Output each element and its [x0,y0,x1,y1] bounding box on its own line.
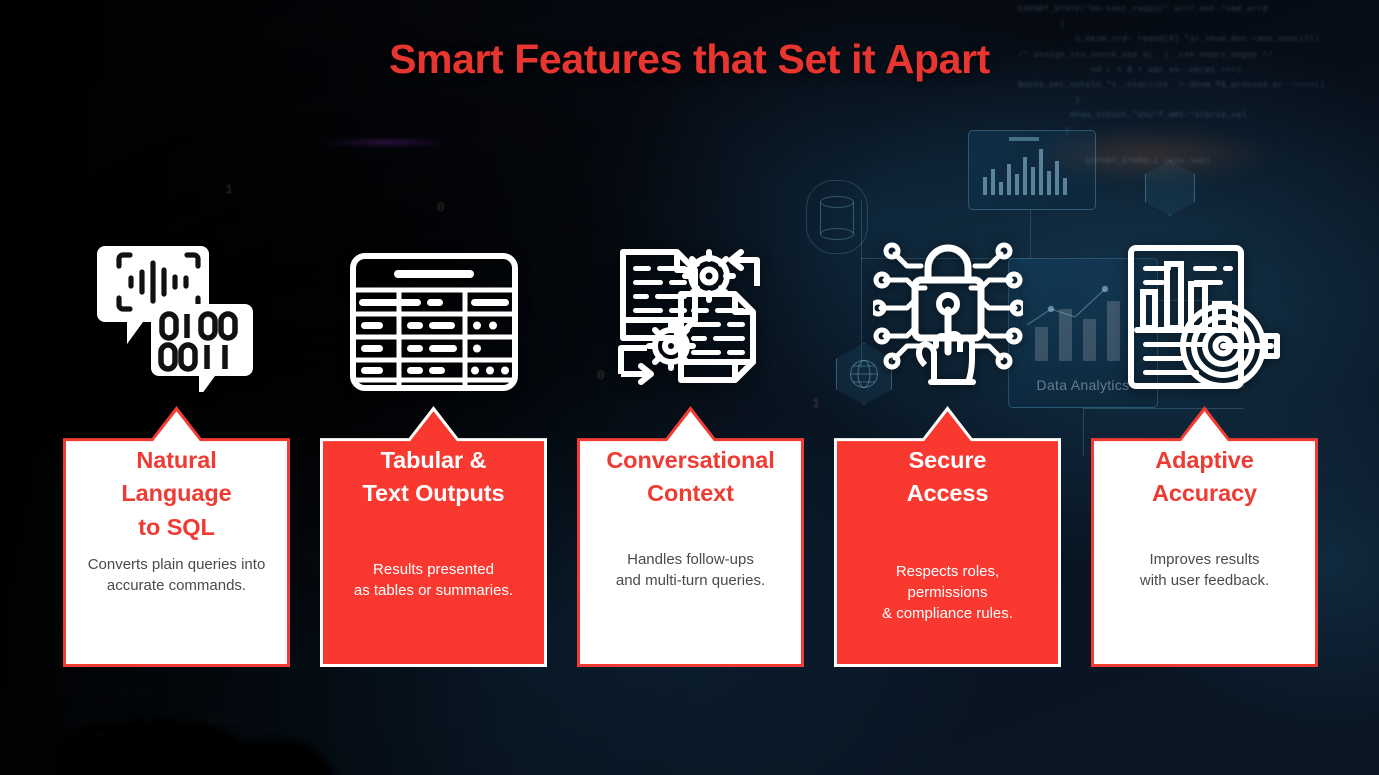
page-title: Smart Features that Set it Apart [0,36,1379,83]
gear-icon [649,324,693,368]
feature-card-adaptive-accuracy[interactable]: AdaptiveAccuracyImproves resultswith use… [1091,406,1318,667]
padlock-circuit-hand-icon [873,232,1023,392]
icon-cell-adaptive-accuracy [1091,212,1318,392]
icon-cell-natural-language-to-sql [63,212,290,392]
gear-icon [685,252,733,300]
feature-card-tabular-text-outputs[interactable]: Tabular &Text OutputsResults presentedas… [320,406,547,667]
feature-icon-row [63,212,1318,392]
feature-card-title: ConversationalContext [606,444,774,511]
feature-card-conversational-context[interactable]: ConversationalContextHandles follow-upsa… [577,406,804,667]
feature-card-title: NaturalLanguageto SQL [121,444,231,544]
feature-card-row: NaturalLanguageto SQLConverts plain quer… [63,406,1318,667]
icon-cell-conversational-context [577,212,804,392]
feature-card-description: Results presentedas tables or summaries. [352,559,515,602]
documents-gears-sync-icon [613,242,769,392]
feature-card-body: SecureAccessRespects roles,permissions& … [846,440,1049,655]
feature-card-body: Tabular &Text OutputsResults presentedas… [332,440,535,655]
feature-card-description: Improves resultswith user feedback. [1138,549,1271,592]
feature-card-description: Handles follow-upsand multi-turn queries… [614,549,767,592]
feature-card-title: SecureAccess [907,444,989,511]
feature-card-title: AdaptiveAccuracy [1152,444,1257,511]
icon-cell-tabular-text-outputs [320,212,547,392]
feature-card-description: Converts plain queries intoaccurate comm… [86,554,268,597]
feature-card-natural-language-to-sql[interactable]: NaturalLanguageto SQLConverts plain quer… [63,406,290,667]
feature-card-body: AdaptiveAccuracyImproves resultswith use… [1103,440,1306,655]
speech-bubbles-binary-icon [97,232,257,392]
feature-card-secure-access[interactable]: SecureAccessRespects roles,permissions& … [834,406,1061,667]
feature-card-title: Tabular &Text Outputs [363,444,505,511]
feature-card-body: ConversationalContextHandles follow-upsa… [589,440,792,655]
background-digit: 1 [225,182,233,197]
data-table-icon [349,252,519,392]
feature-card-body: NaturalLanguageto SQLConverts plain quer… [75,440,278,655]
feature-card-description: Respects roles,permissions& compliance r… [880,561,1015,625]
icon-cell-secure-access [834,212,1061,392]
report-target-icon [1125,242,1285,392]
